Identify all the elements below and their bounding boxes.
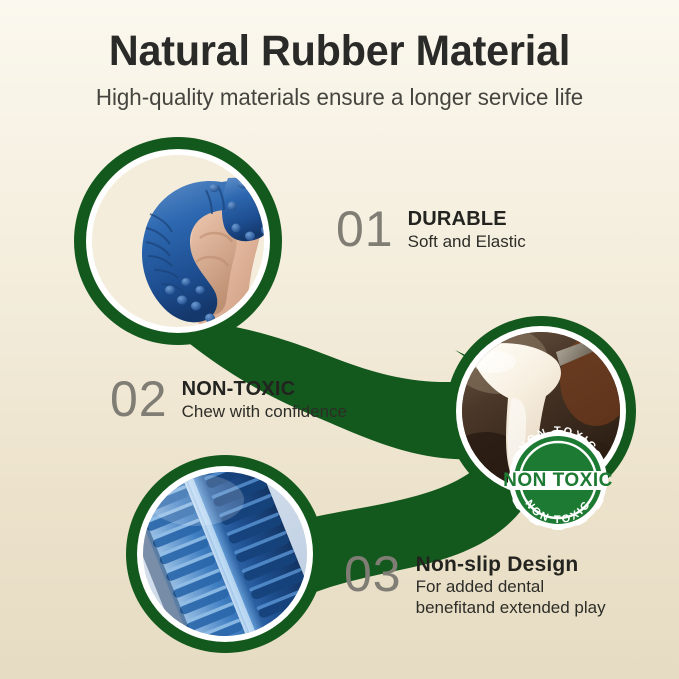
badge-center-text: NON TOXIC <box>503 470 613 491</box>
feature-block-durable: 01 DURABLE Soft and Elastic <box>336 204 526 254</box>
feature-number-03: 03 <box>344 549 402 599</box>
feature-subheading-non-toxic: Chew with confidence <box>182 401 347 422</box>
feature-photo-3 <box>122 452 324 665</box>
feature-subheading-non-slip-line1: For added dental <box>416 576 606 597</box>
product-infographic: NON TOXIC NON TOXIC NON TOXIC Natural Ru… <box>0 0 679 679</box>
feature-number-01: 01 <box>336 204 394 254</box>
page-title: Natural Rubber Material <box>14 0 666 76</box>
feature-photo-1 <box>74 137 282 345</box>
feature-block-non-slip: 03 Non-slip Design For added dental bene… <box>344 549 606 618</box>
page-subtitle: High-quality materials ensure a longer s… <box>10 76 669 111</box>
feature-heading-non-toxic: NON-TOXIC <box>182 378 347 401</box>
feature-heading-durable: DURABLE <box>408 208 526 231</box>
feature-subheading-non-slip-line2: benefitand extended play <box>416 597 606 618</box>
feature-heading-non-slip: Non-slip Design <box>416 553 606 576</box>
feature-block-non-toxic: 02 NON-TOXIC Chew with confidence <box>110 374 347 424</box>
poster-header: Natural Rubber Material High-quality mat… <box>0 0 679 111</box>
feature-subheading-durable: Soft and Elastic <box>408 231 526 252</box>
feature-number-02: 02 <box>110 374 168 424</box>
